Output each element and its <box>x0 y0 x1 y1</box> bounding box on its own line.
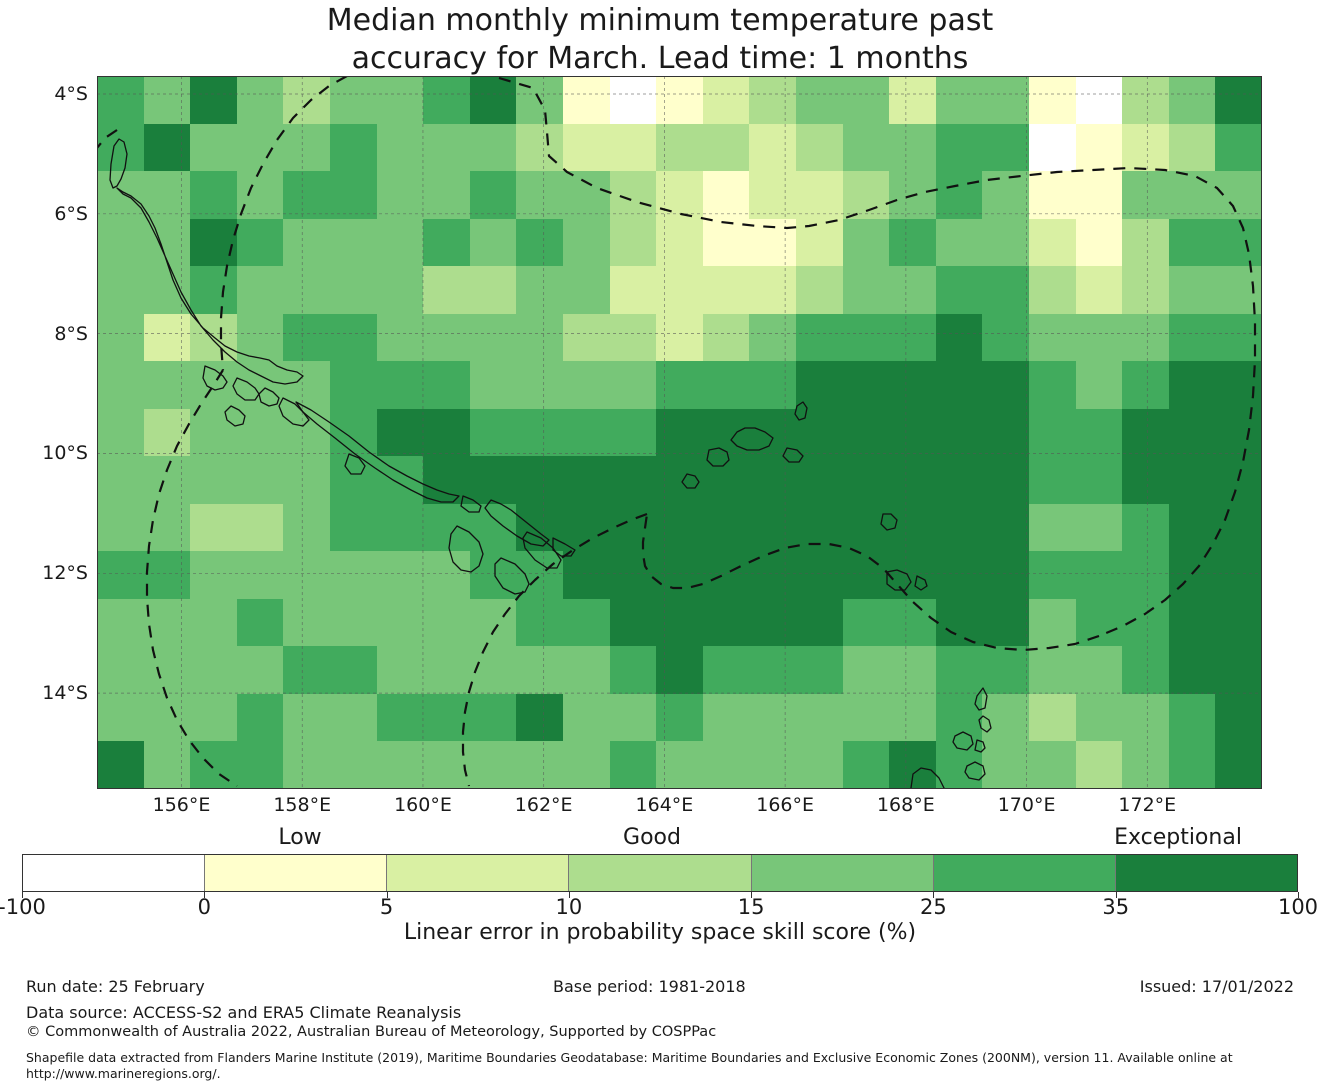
heatmap-cell <box>97 314 144 362</box>
heatmap-cell <box>283 124 330 172</box>
heatmap-cell <box>516 171 563 219</box>
heatmap-cell <box>1029 456 1076 504</box>
heatmap-cell <box>1122 361 1169 409</box>
heatmap-cell <box>190 504 237 552</box>
colorbar-segment <box>1116 855 1297 891</box>
heatmap-cell <box>1076 76 1123 124</box>
heatmap-cell <box>97 409 144 457</box>
heatmap-cell <box>749 124 796 172</box>
data-source: Data source: ACCESS-S2 and ERA5 Climate … <box>26 1003 461 1022</box>
heatmap-cell <box>703 219 750 267</box>
heatmap-cell <box>144 599 191 647</box>
heatmap-cell <box>144 219 191 267</box>
heatmap-cell <box>749 219 796 267</box>
heatmap-cell <box>889 76 936 124</box>
heatmap-cell <box>423 694 470 742</box>
heatmap-cell <box>423 171 470 219</box>
heatmap-cell <box>190 409 237 457</box>
heatmap-cell <box>470 266 517 314</box>
colorbar[interactable] <box>22 854 1298 892</box>
heatmap-cell <box>144 551 191 599</box>
heatmap-cell <box>936 219 983 267</box>
heatmap-cell <box>796 646 843 694</box>
heatmap-cell <box>190 219 237 267</box>
heatmap-cell <box>283 314 330 362</box>
heatmap-cell <box>563 171 610 219</box>
heatmap-cell <box>982 551 1029 599</box>
heatmap-cell <box>843 741 890 789</box>
heatmap-cell <box>1215 219 1262 267</box>
heatmap-cell <box>610 76 657 124</box>
heatmap-cell <box>889 361 936 409</box>
heatmap-cell <box>1169 171 1216 219</box>
heatmap-cell <box>516 124 563 172</box>
heatmap-cell <box>423 646 470 694</box>
heatmap-cell <box>470 314 517 362</box>
heatmap-cell <box>190 646 237 694</box>
heatmap-cell <box>889 599 936 647</box>
heatmap-cell <box>283 361 330 409</box>
heatmap-cell <box>1076 266 1123 314</box>
heatmap-cell <box>889 694 936 742</box>
heatmap-cell <box>283 551 330 599</box>
colorbar-tick-mark <box>1116 892 1117 898</box>
heatmap-cell <box>1076 409 1123 457</box>
heatmap-cell <box>656 551 703 599</box>
heatmap-cell <box>516 219 563 267</box>
heatmap-cell <box>1029 76 1076 124</box>
colorbar-tick-label: 5 <box>327 895 447 919</box>
heatmap-cell <box>516 694 563 742</box>
heatmap-cell <box>423 314 470 362</box>
colorbar-tick-label: -100 <box>0 895 82 919</box>
heatmap-cell <box>237 694 284 742</box>
heatmap-cell <box>190 694 237 742</box>
heatmap-cell <box>656 266 703 314</box>
heatmap-cell <box>749 504 796 552</box>
heatmap-cell <box>1076 219 1123 267</box>
heatmap-cell <box>749 409 796 457</box>
heatmap-cell <box>1169 219 1216 267</box>
colorbar-segment <box>23 855 205 891</box>
heatmap-cell <box>377 76 424 124</box>
heatmap-cell <box>936 409 983 457</box>
heatmap-cell <box>1169 314 1216 362</box>
heatmap-cell <box>1215 504 1262 552</box>
heatmap-cell <box>190 266 237 314</box>
heatmap-cell <box>97 76 144 124</box>
heatmap-cell <box>237 551 284 599</box>
colorbar-category-label: Good <box>502 825 802 850</box>
heatmap-cell <box>936 599 983 647</box>
heatmap-cell <box>843 266 890 314</box>
heatmap-cell <box>330 314 377 362</box>
heatmap-cell <box>982 599 1029 647</box>
heatmap-cell <box>330 124 377 172</box>
colorbar-tick-mark <box>1298 892 1299 898</box>
heatmap-cell <box>97 504 144 552</box>
heatmap-cell <box>97 599 144 647</box>
base-period: Base period: 1981-2018 <box>553 977 746 996</box>
heatmap-cell <box>1169 694 1216 742</box>
heatmap-cell <box>656 694 703 742</box>
heatmap-cell <box>97 646 144 694</box>
heatmap-cell <box>1029 219 1076 267</box>
heatmap-cell <box>144 504 191 552</box>
heatmap-cell <box>97 266 144 314</box>
heatmap-cell <box>703 551 750 599</box>
issued-date: Issued: 17/01/2022 <box>1140 977 1294 996</box>
heatmap-cell <box>377 171 424 219</box>
heatmap-cell <box>749 76 796 124</box>
heatmap-cell <box>1029 551 1076 599</box>
heatmap-cell <box>563 551 610 599</box>
heatmap-cell <box>610 266 657 314</box>
heatmap-cell <box>982 456 1029 504</box>
heatmap-cell <box>237 171 284 219</box>
heatmap-cell <box>703 504 750 552</box>
heatmap-cell <box>377 124 424 172</box>
heatmap-cell <box>610 694 657 742</box>
heatmap-cell <box>889 551 936 599</box>
heatmap-cell <box>283 456 330 504</box>
heatmap-cell <box>1215 124 1262 172</box>
heatmap-cell <box>703 361 750 409</box>
heatmap-cell <box>563 646 610 694</box>
heatmap-cell <box>936 456 983 504</box>
shapefile-attribution-line2: http://www.marineregions.org/. <box>26 1066 221 1081</box>
heatmap-cell <box>1076 124 1123 172</box>
heatmap-cell <box>1076 551 1123 599</box>
heatmap-cell <box>283 266 330 314</box>
heatmap-cell <box>516 456 563 504</box>
heatmap-cell <box>749 741 796 789</box>
footer-meta-row: Run date: 25 February Base period: 1981-… <box>0 977 1320 999</box>
heatmap-cell <box>237 409 284 457</box>
heatmap-cell <box>1029 599 1076 647</box>
heatmap-cell <box>656 219 703 267</box>
heatmap-cell <box>1169 409 1216 457</box>
heatmap-cell <box>423 456 470 504</box>
heatmap-cell <box>889 504 936 552</box>
heatmap-cell <box>982 76 1029 124</box>
heatmap-cell <box>610 646 657 694</box>
heatmap-cell <box>656 171 703 219</box>
heatmap-cell <box>656 741 703 789</box>
heatmap-cell <box>144 76 191 124</box>
heatmap-cell <box>377 504 424 552</box>
heatmap-cell <box>796 314 843 362</box>
heatmap-cell <box>1122 171 1169 219</box>
heatmap-cell <box>237 361 284 409</box>
heatmap-cell <box>516 646 563 694</box>
heatmap-cell <box>749 361 796 409</box>
heatmap-cell <box>377 361 424 409</box>
heatmap-cell <box>796 409 843 457</box>
heatmap-cell <box>144 266 191 314</box>
heatmap-cell <box>610 361 657 409</box>
heatmap-cell <box>1122 646 1169 694</box>
heatmap-cell <box>423 409 470 457</box>
heatmap-cell <box>423 551 470 599</box>
copyright-notice: © Commonwealth of Australia 2022, Austra… <box>26 1024 716 1040</box>
heatmap-cell <box>1076 361 1123 409</box>
heatmap-cell <box>656 124 703 172</box>
heatmap-cell <box>889 171 936 219</box>
heatmap-cell <box>1122 504 1169 552</box>
heatmap-cell <box>1029 409 1076 457</box>
heatmap-cell <box>656 76 703 124</box>
heatmap-cell <box>889 646 936 694</box>
y-axis-tick-label: 6°S <box>0 203 88 225</box>
heatmap-cell <box>1215 76 1262 124</box>
colorbar-tick-mark <box>569 892 570 898</box>
heatmap-cell <box>1076 741 1123 789</box>
heatmap-cell <box>1122 741 1169 789</box>
heatmap-cell <box>1076 314 1123 362</box>
heatmap-cell <box>703 76 750 124</box>
heatmap-cell <box>283 171 330 219</box>
heatmap-cell <box>1215 741 1262 789</box>
heatmap-cell <box>1169 266 1216 314</box>
heatmap-cell <box>1029 646 1076 694</box>
heatmap-cell <box>563 504 610 552</box>
heatmap-cell <box>516 504 563 552</box>
heatmap-cell <box>283 599 330 647</box>
heatmap-cell <box>796 741 843 789</box>
colorbar-category-label: Exceptional <box>1028 825 1320 850</box>
heatmap-cell <box>144 124 191 172</box>
heatmap-cell <box>283 504 330 552</box>
heatmap-cell <box>330 741 377 789</box>
heatmap-cell <box>1122 409 1169 457</box>
heatmap-cell <box>889 456 936 504</box>
heatmap-cell <box>749 599 796 647</box>
heatmap-cell <box>1215 646 1262 694</box>
heatmap-cell <box>470 409 517 457</box>
heatmap-cell <box>1169 741 1216 789</box>
heatmap-cell <box>283 694 330 742</box>
heatmap-cell <box>377 456 424 504</box>
heatmap-cell <box>190 314 237 362</box>
heatmap-cell <box>936 646 983 694</box>
heatmap-plot <box>97 76 1262 789</box>
heatmap-cell <box>1122 124 1169 172</box>
shapefile-attribution-line1: Shapefile data extracted from Flanders M… <box>26 1050 1233 1065</box>
heatmap-cell <box>283 646 330 694</box>
heatmap-cell <box>237 314 284 362</box>
colorbar-tick-label: 35 <box>1056 895 1176 919</box>
heatmap-cell <box>936 504 983 552</box>
heatmap-cell <box>703 409 750 457</box>
heatmap-cell <box>516 409 563 457</box>
heatmap-cell <box>703 124 750 172</box>
heatmap-cell <box>237 741 284 789</box>
heatmap-cell <box>190 124 237 172</box>
heatmap-cell <box>423 741 470 789</box>
heatmap-cell <box>1122 266 1169 314</box>
heatmap-cell <box>470 504 517 552</box>
heatmap-cell <box>656 456 703 504</box>
heatmap-cell <box>889 314 936 362</box>
heatmap-cell <box>1215 361 1262 409</box>
heatmap-cell <box>144 741 191 789</box>
heatmap-cell <box>843 171 890 219</box>
heatmap-cell <box>1169 361 1216 409</box>
heatmap-cell <box>1029 361 1076 409</box>
heatmap-cell <box>377 266 424 314</box>
heatmap-cell <box>1122 76 1169 124</box>
colorbar-tick-label: 0 <box>144 895 264 919</box>
heatmap-cell <box>796 124 843 172</box>
heatmap-cell <box>470 551 517 599</box>
heatmap-cell <box>703 314 750 362</box>
heatmap-cell <box>610 171 657 219</box>
heatmap-cell <box>1076 694 1123 742</box>
heatmap-cell <box>190 599 237 647</box>
heatmap-cell <box>1076 456 1123 504</box>
heatmap-cell <box>330 504 377 552</box>
heatmap-cell <box>423 361 470 409</box>
heatmap-cell <box>1122 551 1169 599</box>
colorbar-tick-mark <box>22 892 23 898</box>
heatmap-cell <box>1169 646 1216 694</box>
heatmap-cell <box>237 504 284 552</box>
heatmap-cell <box>563 361 610 409</box>
heatmap-cell <box>982 219 1029 267</box>
heatmap-cell <box>283 76 330 124</box>
heatmap-cell <box>843 599 890 647</box>
heatmap-cell <box>796 599 843 647</box>
heatmap-cell <box>1215 694 1262 742</box>
heatmap-cell <box>656 504 703 552</box>
heatmap-cell <box>982 694 1029 742</box>
heatmap-cell <box>377 314 424 362</box>
heatmap-cell <box>144 456 191 504</box>
heatmap-cell <box>610 124 657 172</box>
heatmap-cell <box>796 456 843 504</box>
colorbar-segment <box>934 855 1116 891</box>
heatmap-cell <box>656 646 703 694</box>
heatmap-cell <box>190 361 237 409</box>
heatmap-cell <box>843 76 890 124</box>
heatmap-cell <box>144 361 191 409</box>
heatmap-cell <box>190 171 237 219</box>
heatmap-cell <box>144 171 191 219</box>
heatmap-cell <box>889 741 936 789</box>
heatmap-cell <box>936 266 983 314</box>
heatmap-cell <box>1076 599 1123 647</box>
heatmap-cell <box>843 409 890 457</box>
heatmap-cell <box>749 694 796 742</box>
y-axis-tick-label: 12°S <box>0 562 88 584</box>
colorbar-segment <box>569 855 751 891</box>
heatmap-cell <box>889 266 936 314</box>
heatmap-cell <box>703 646 750 694</box>
heatmap-cell <box>749 266 796 314</box>
colorbar-gradient <box>22 854 1298 892</box>
heatmap-cell <box>516 361 563 409</box>
heatmap-cell <box>377 219 424 267</box>
heatmap-cell <box>97 124 144 172</box>
heatmap-cell <box>97 456 144 504</box>
heatmap-cell <box>936 694 983 742</box>
heatmap-cell <box>1029 741 1076 789</box>
heatmap-cell <box>1169 76 1216 124</box>
heatmap-cell <box>190 741 237 789</box>
colorbar-tick-mark <box>387 892 388 898</box>
heatmap-cell <box>889 409 936 457</box>
heatmap-cell <box>936 171 983 219</box>
heatmap-cell <box>610 599 657 647</box>
heatmap-cell <box>796 551 843 599</box>
heatmap-cell <box>330 551 377 599</box>
heatmap-cell <box>237 219 284 267</box>
heatmap-cell <box>1029 504 1076 552</box>
heatmap-cell <box>843 551 890 599</box>
heatmap-cell <box>936 361 983 409</box>
heatmap-cell <box>936 741 983 789</box>
heatmap-cell <box>982 266 1029 314</box>
heatmap-cell <box>1029 694 1076 742</box>
colorbar-category-label: Low <box>150 825 450 850</box>
run-date: Run date: 25 February <box>26 977 205 996</box>
heatmap-cell <box>470 741 517 789</box>
heatmap-cell <box>749 456 796 504</box>
heatmap-cell <box>982 409 1029 457</box>
heatmap-cell <box>330 171 377 219</box>
heatmap-cell <box>377 599 424 647</box>
heatmap-cell <box>97 741 144 789</box>
heatmap-cell <box>97 171 144 219</box>
heatmap-cell <box>237 124 284 172</box>
heatmap-cell <box>423 504 470 552</box>
heatmap-cell <box>423 76 470 124</box>
heatmap-cell <box>516 76 563 124</box>
heatmap-cell <box>237 646 284 694</box>
heatmap-cell <box>237 456 284 504</box>
heatmap-cell <box>1169 599 1216 647</box>
heatmap-cell <box>1169 504 1216 552</box>
heatmap-cell <box>936 551 983 599</box>
heatmap-cell <box>144 646 191 694</box>
heatmap-cell <box>190 456 237 504</box>
heatmap-cell <box>1215 551 1262 599</box>
heatmap-cell <box>1076 504 1123 552</box>
colorbar-tick-label: 25 <box>873 895 993 919</box>
heatmap-cell <box>1122 599 1169 647</box>
heatmap-cell <box>330 361 377 409</box>
heatmap-cell <box>1122 219 1169 267</box>
heatmap-cell <box>516 741 563 789</box>
heatmap-cell <box>423 124 470 172</box>
heatmap-cell <box>796 76 843 124</box>
heatmap-cell <box>843 456 890 504</box>
heatmap-cell <box>703 599 750 647</box>
heatmap-cell <box>283 741 330 789</box>
heatmap-cell <box>97 694 144 742</box>
heatmap-cell <box>563 76 610 124</box>
heatmap-cell <box>330 76 377 124</box>
heatmap-cell <box>237 76 284 124</box>
heatmap-cell <box>237 599 284 647</box>
heatmap-cell <box>1122 694 1169 742</box>
heatmap-cell <box>982 124 1029 172</box>
heatmap-cell <box>889 124 936 172</box>
heatmap-cell <box>610 219 657 267</box>
colorbar-segment <box>387 855 569 891</box>
heatmap-cell <box>330 646 377 694</box>
